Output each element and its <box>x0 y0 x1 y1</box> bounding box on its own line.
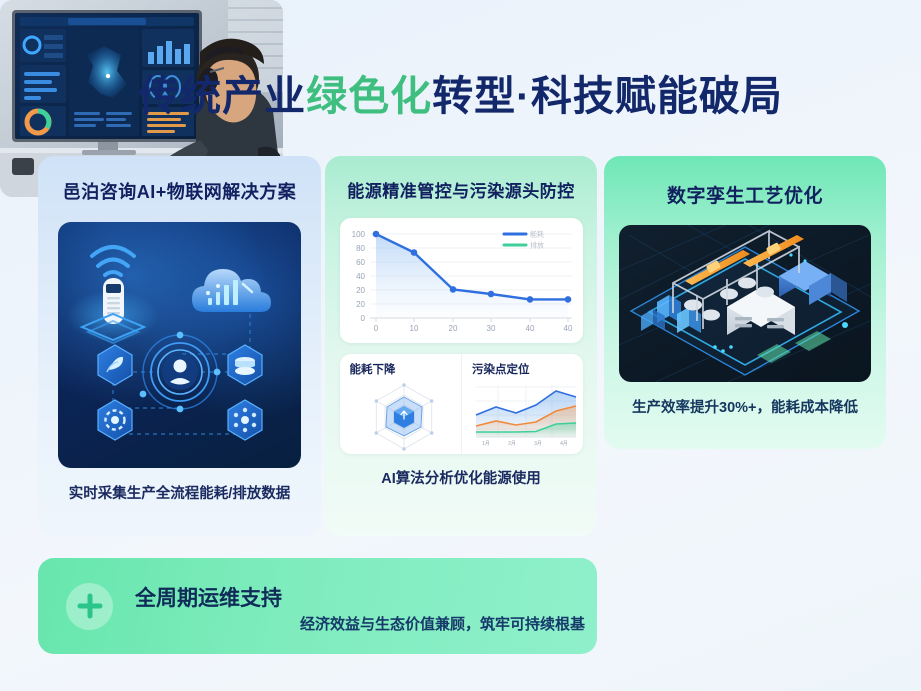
card-energy-control[interactable]: 能源精准管控与污染源头防控 100 80 <box>325 156 597 536</box>
energy-radar-chart <box>350 379 458 453</box>
svg-text:40: 40 <box>525 324 534 333</box>
svg-text:1月: 1月 <box>482 441 490 447</box>
svg-text:60: 60 <box>356 258 365 267</box>
svg-text:0: 0 <box>360 314 365 323</box>
iot-network-svg <box>58 222 301 468</box>
svg-text:0: 0 <box>373 324 378 333</box>
pollution-area-chart: 1月2月 3月4月 <box>472 379 580 453</box>
cloud-analytics-icon <box>192 269 271 312</box>
card-digital-twin-caption: 生产效率提升30%+，能耗成本降低 <box>604 396 886 417</box>
energy-line-chart-panel[interactable]: 100 80 60 40 20 20 0 0 10 20 30 40 40 <box>340 218 583 343</box>
card-digital-twin-title: 数字孪生工艺优化 <box>604 181 886 208</box>
card-iot-title: 邑泊咨询AI+物联网解决方案 <box>38 178 321 204</box>
wifi-icon <box>92 247 134 275</box>
card-energy-title: 能源精准管控与污染源头防控 <box>325 177 597 202</box>
card-iot-solution[interactable]: 邑泊咨询AI+物联网解决方案 <box>38 156 321 536</box>
svg-text:4月: 4月 <box>560 441 568 447</box>
page-title: 传统产业绿色化转型·科技赋能破局 <box>0 62 921 122</box>
mini-charts-panel[interactable]: 能耗下降 <box>340 354 583 454</box>
plus-icon <box>66 583 113 630</box>
chart-y-ticks: 100 80 60 40 20 20 0 <box>351 230 365 323</box>
banner-heading: 全周期运维支持 <box>135 582 282 612</box>
digital-twin-svg <box>619 225 871 382</box>
chart-x-tickmarks <box>376 318 568 322</box>
digital-twin-factory-illustration <box>619 225 871 382</box>
chart-x-ticks: 0 10 20 30 40 40 <box>373 324 572 333</box>
legend-label-series1: 能耗 <box>530 230 544 239</box>
lifecycle-support-banner[interactable]: 全周期运维支持 经济效益与生态价值兼顾，筑牢可持续根基 <box>38 558 597 654</box>
card-digital-twin-caption-wrap: 生产效率提升30%+，能耗成本降低 <box>604 396 886 417</box>
svg-text:40: 40 <box>356 272 365 281</box>
card-energy-caption: AI算法分析优化能源使用 <box>325 467 597 488</box>
iot-network-illustration <box>58 222 301 468</box>
legend-label-series2: 排放 <box>530 241 544 250</box>
svg-text:40: 40 <box>563 324 572 333</box>
svg-text:3月: 3月 <box>534 441 542 447</box>
hex-leaf-icon <box>98 345 132 385</box>
svg-text:2月: 2月 <box>508 441 516 447</box>
radar-chart-title: 能耗下降 <box>350 361 456 377</box>
svg-text:100: 100 <box>351 230 365 239</box>
hex-gear-icon <box>98 400 132 440</box>
pollution-chart-block[interactable]: 污染点定位 <box>461 354 583 454</box>
card-digital-twin[interactable]: 数字孪生工艺优化 <box>604 156 886 449</box>
svg-text:20: 20 <box>356 286 365 295</box>
chart-legend[interactable]: 能耗 排放 <box>504 230 544 250</box>
svg-text:10: 10 <box>409 324 418 333</box>
energy-line-chart: 100 80 60 40 20 20 0 0 10 20 30 40 40 <box>344 226 577 339</box>
svg-text:30: 30 <box>486 324 495 333</box>
banner-subtext: 经济效益与生态价值兼顾，筑牢可持续根基 <box>300 613 585 634</box>
photo-speaker <box>12 158 34 175</box>
card-iot-caption-wrap: 实时采集生产全流程能耗/排放数据 <box>38 482 321 503</box>
hex-database-icon <box>228 345 262 385</box>
pollution-chart-title: 污染点定位 <box>472 361 577 377</box>
sensor-screen <box>106 284 121 293</box>
page-title-part1: 传统产业 <box>138 73 306 119</box>
plus-icon-svg <box>77 593 103 619</box>
svg-text:20: 20 <box>356 300 365 309</box>
page-title-part2: 转型·科技赋能破局 <box>432 73 783 119</box>
central-user-node <box>140 332 221 413</box>
page-title-highlight: 绿色化 <box>306 73 432 119</box>
pollution-x-ticks: 1月2月 3月4月 <box>482 441 568 447</box>
card-iot-caption: 实时采集生产全流程能耗/排放数据 <box>38 482 321 503</box>
card-energy-caption-wrap: AI算法分析优化能源使用 <box>325 467 597 488</box>
svg-text:20: 20 <box>448 324 457 333</box>
svg-text:80: 80 <box>356 244 365 253</box>
user-head-icon <box>174 360 187 373</box>
radar-chart-block[interactable]: 能耗下降 <box>340 354 462 454</box>
